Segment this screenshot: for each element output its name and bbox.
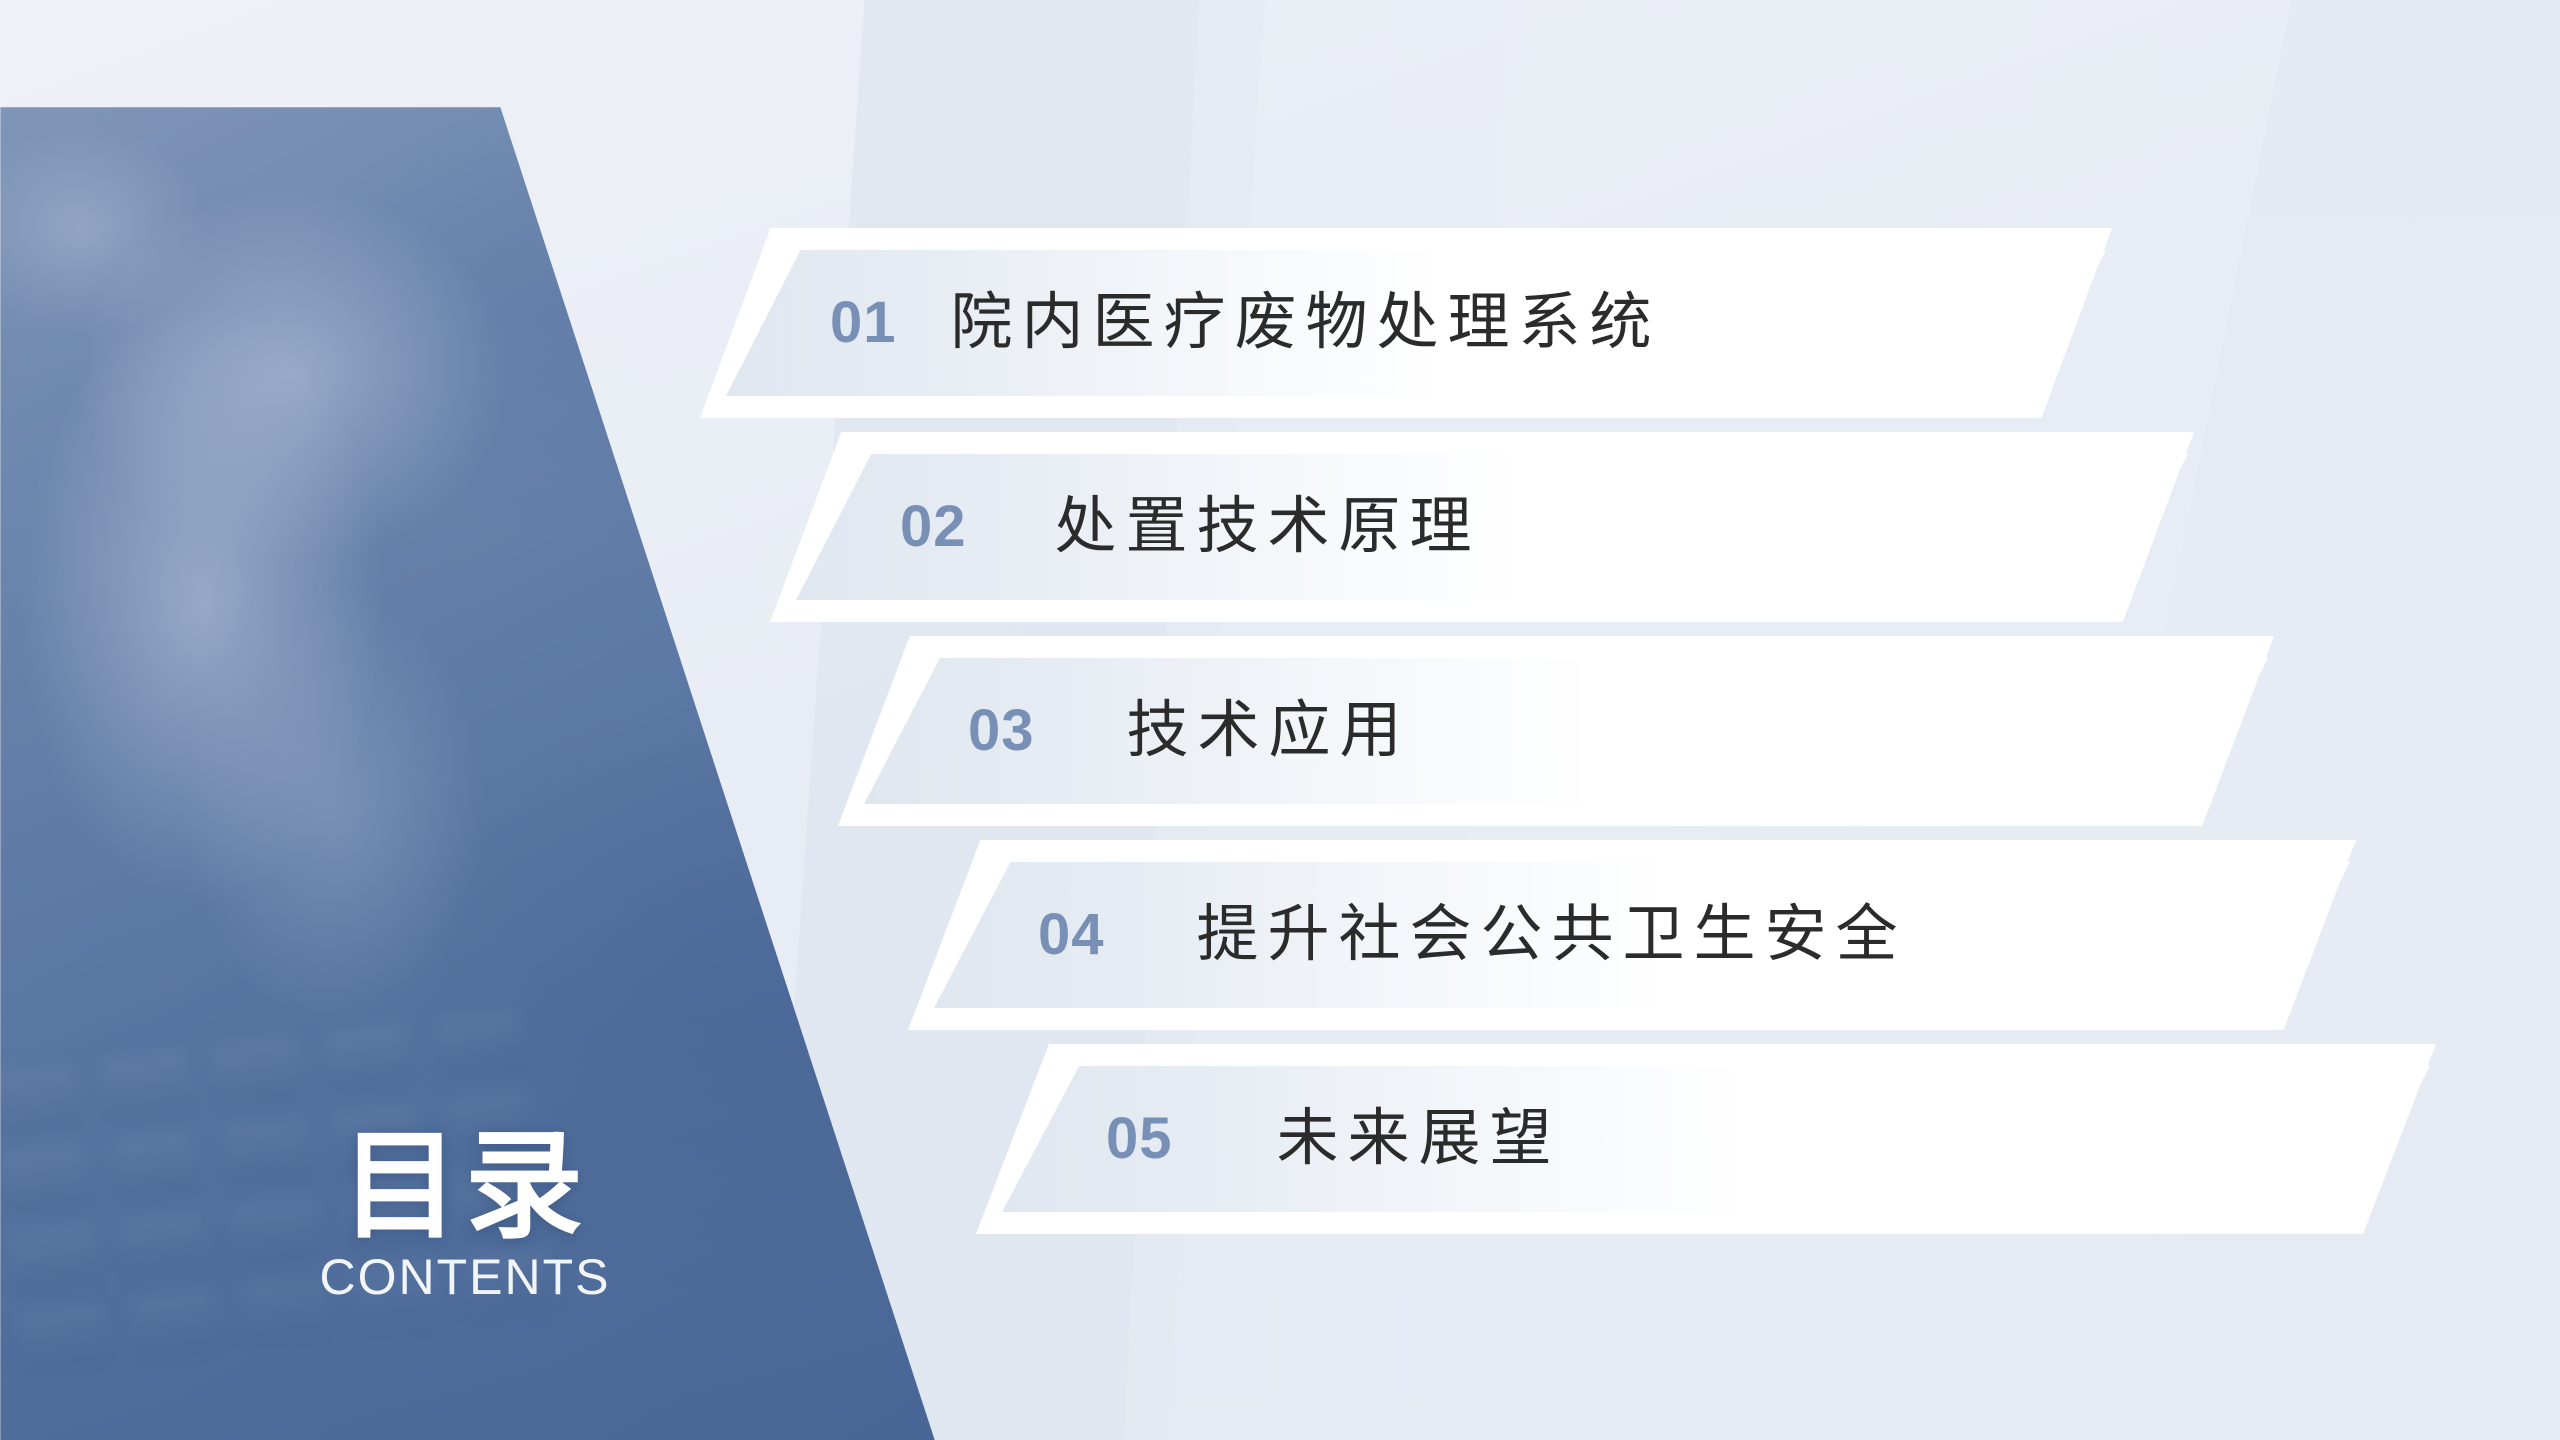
item-label-04: 提升社会公共卫生安全	[1197, 904, 1907, 966]
contents-item-05[interactable]: 05 未来展望	[976, 1044, 2436, 1234]
item-number-04: 04	[1038, 906, 1105, 964]
item-content-03: 03 技术应用	[968, 636, 1411, 826]
contents-item-01[interactable]: 01 院内医疗废物处理系统	[700, 228, 2112, 418]
contents-item-04[interactable]: 04 提升社会公共卫生安全	[908, 840, 2356, 1030]
slide-canvas: 目录 CONTENTS 01 院内医疗废物处理系统 02 处置技术原理	[0, 0, 2560, 1440]
item-content-05: 05 未来展望	[1106, 1044, 1561, 1234]
item-content-02: 02 处置技术原理	[900, 432, 1481, 622]
item-content-04: 04 提升社会公共卫生安全	[1038, 840, 1907, 1030]
item-number-01: 01	[830, 294, 897, 352]
item-label-01: 院内医疗废物处理系统	[951, 292, 1661, 354]
item-number-05: 05	[1106, 1110, 1173, 1168]
contents-item-02[interactable]: 02 处置技术原理	[770, 432, 2194, 622]
item-number-03: 03	[968, 702, 1035, 760]
item-label-03: 技术应用	[1127, 700, 1411, 762]
item-number-02: 02	[900, 498, 967, 556]
item-content-01: 01 院内医疗废物处理系统	[830, 228, 1661, 418]
item-label-05: 未来展望	[1277, 1108, 1561, 1170]
contents-list: 01 院内医疗废物处理系统 02 处置技术原理 03 技术应用 04	[0, 0, 2560, 1440]
contents-item-03[interactable]: 03 技术应用	[838, 636, 2274, 826]
item-label-02: 处置技术原理	[1055, 496, 1481, 558]
